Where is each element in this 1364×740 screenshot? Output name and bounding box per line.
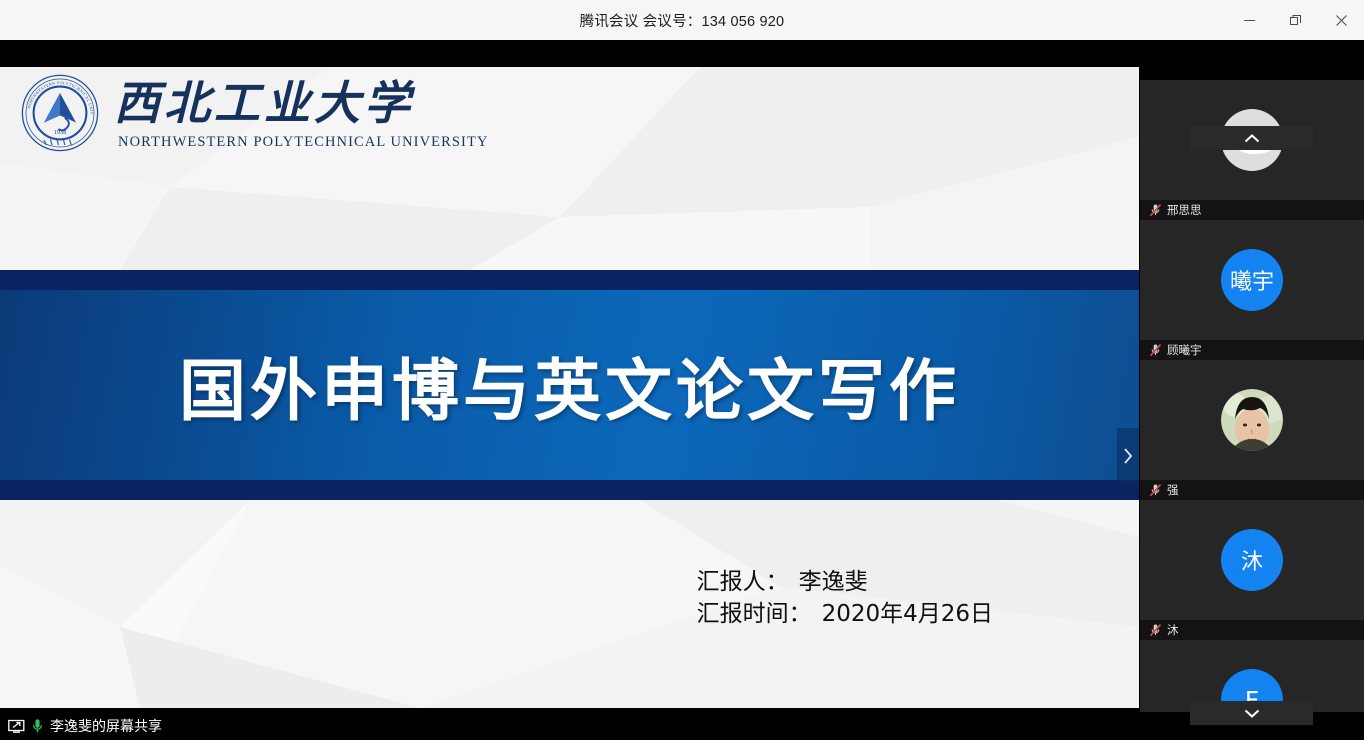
- mic-muted-icon: [1149, 623, 1162, 637]
- presenter-label: 汇报人：: [697, 567, 789, 599]
- screen-share-icon: [8, 719, 25, 734]
- restore-button[interactable]: [1272, 0, 1318, 40]
- svg-text:1938: 1938: [54, 129, 67, 136]
- avatar: 沐: [1221, 529, 1283, 591]
- presenter-info: 汇报人：李逸斐 汇报时间：2020年4月26日: [697, 567, 993, 630]
- mic-muted-icon: [1149, 483, 1162, 497]
- close-icon: [1336, 15, 1347, 26]
- university-name-en: NORTHWESTERN POLYTECHNICAL UNIVERSITY: [118, 134, 489, 151]
- participant-name-bar: 顾曦宇: [1140, 340, 1364, 360]
- window-controls: [1226, 0, 1364, 40]
- share-stage: 1938 NORTHWESTERN POLYTECHNICAL UNIVERSI…: [0, 40, 1364, 712]
- banner-stripe-top: [0, 270, 1139, 290]
- slide-title: 国外申博与英文论文写作: [0, 290, 1139, 480]
- participant-tile[interactable]: 沐: [1140, 500, 1364, 620]
- slide-header: 1938 NORTHWESTERN POLYTECHNICAL UNIVERSI…: [0, 67, 1139, 270]
- mic-muted-icon: [1149, 343, 1162, 357]
- meeting-title: 腾讯会议 会议号：134 056 920: [580, 10, 785, 31]
- meeting-window: 腾讯会议 会议号：134 056 920: [0, 0, 1364, 740]
- chevron-down-icon: [1244, 709, 1260, 718]
- participant-tile[interactable]: [1140, 360, 1364, 480]
- date-label: 汇报时间：: [697, 599, 812, 631]
- participant-name: 强: [1167, 482, 1179, 498]
- scroll-down-button[interactable]: [1190, 701, 1313, 725]
- scroll-up-button[interactable]: [1190, 126, 1313, 150]
- presenter-row: 汇报人：李逸斐: [697, 567, 993, 599]
- participant-name: 沐: [1167, 622, 1179, 638]
- university-name-block: 西北工业大学 NORTHWESTERN POLYTECHNICAL UNIVER…: [114, 75, 489, 151]
- university-emblem-icon: 1938 NORTHWESTERN POLYTECHNICAL UNIVERSI…: [20, 73, 100, 153]
- date-row: 汇报时间：2020年4月26日: [697, 599, 993, 631]
- restore-icon: [1290, 15, 1301, 26]
- participant-name-bar: 沐: [1140, 620, 1364, 640]
- minimize-button[interactable]: [1226, 0, 1272, 40]
- university-logo: 1938 NORTHWESTERN POLYTECHNICAL UNIVERSI…: [20, 73, 489, 153]
- banner-stripe-bottom: [0, 480, 1139, 500]
- title-bar: 腾讯会议 会议号：134 056 920: [0, 0, 1364, 40]
- participant-name: 顾曦宇: [1167, 342, 1202, 358]
- share-status-text: 李逸斐的屏幕共享: [50, 716, 162, 736]
- mic-on-icon: [31, 718, 44, 734]
- university-name-cn-icon: 西北工业大学: [114, 75, 426, 131]
- person-photo-avatar-icon: [1221, 389, 1283, 451]
- participant-name: 邢思思: [1167, 202, 1202, 218]
- participant-name-bar: 邢思思: [1140, 200, 1364, 220]
- avatar: 曦宇: [1221, 249, 1283, 311]
- close-button[interactable]: [1318, 0, 1364, 40]
- chevron-right-icon: [1123, 448, 1133, 464]
- mic-muted-icon: [1149, 203, 1162, 217]
- banner-body: 国外申博与英文论文写作: [0, 290, 1139, 480]
- avatar: [1221, 389, 1283, 451]
- participant-strip[interactable]: 邢思思 曦宇 顾曦宇: [1140, 80, 1364, 740]
- slide-title-banner: 国外申博与英文论文写作: [0, 270, 1139, 500]
- next-slide-button[interactable]: [1117, 428, 1139, 484]
- shared-slide: 1938 NORTHWESTERN POLYTECHNICAL UNIVERSI…: [0, 67, 1139, 708]
- date-value: 2020年4月26日: [822, 599, 993, 631]
- participant-tile[interactable]: 曦宇: [1140, 220, 1364, 340]
- minimize-icon: [1244, 15, 1255, 26]
- svg-text:西北工业大学: 西北工业大学: [114, 76, 416, 130]
- chevron-up-icon: [1244, 134, 1260, 143]
- presenter-name: 李逸斐: [799, 567, 868, 599]
- status-bar: 李逸斐的屏幕共享: [0, 712, 1364, 740]
- participant-name-bar: 强: [1140, 480, 1364, 500]
